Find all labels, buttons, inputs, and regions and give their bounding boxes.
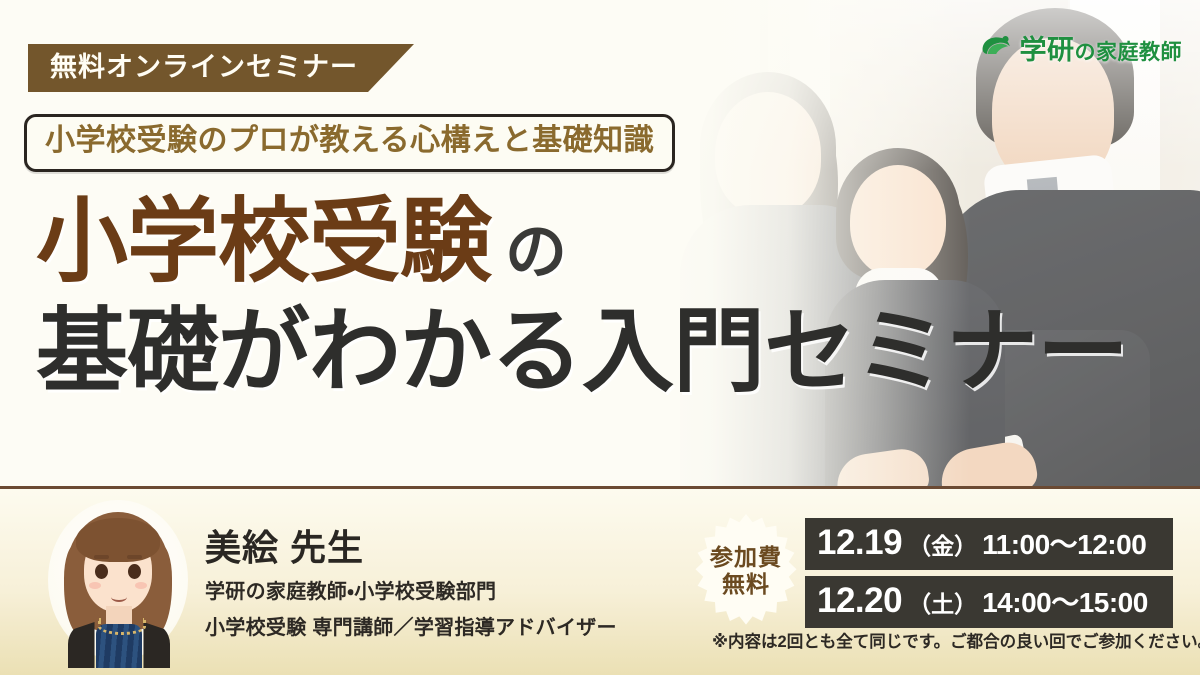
session-weekday: （金） [908, 527, 977, 561]
session-note: ※内容は2回とも全て同じです。ご都合の良い回でご参加ください。 [712, 628, 1192, 652]
avatar-eye [95, 564, 108, 579]
instructor-affiliation: 学研の家庭教師・小学校受験部門 [205, 575, 617, 604]
session-date: 12.20 [817, 581, 902, 621]
headline-particle: の [505, 221, 567, 290]
instructor-info: 美絵 先生 学研の家庭教師・小学校受験部門 小学校受験 専門講師／学習指導アドバ… [205, 528, 617, 640]
hero-section: 学研の家庭教師 無料オンラインセミナー 小学校受験のプロが教える心構えと基礎知識… [0, 0, 1200, 487]
section-divider [0, 486, 1200, 489]
avatar-cheek [89, 582, 101, 589]
headline-line-1: 小学校受験 の [36, 196, 1128, 290]
avatar-eyebrow [94, 555, 109, 559]
headline: 小学校受験 の 基礎がわかる入門セミナー [36, 196, 1128, 400]
session-weekday: （土） [908, 585, 977, 619]
fee-badge-line2: 無料 [722, 571, 770, 598]
fee-badge-line1: 参加費 [710, 544, 782, 571]
session-list: 12.19 （金） 11:00〜12:00 12.20 （土） 14:00〜15… [805, 518, 1173, 634]
avatar-mouth [111, 592, 127, 602]
fee-badge: 参加費 無料 [687, 512, 805, 630]
instructor-name: 美絵 先生 [205, 528, 617, 568]
avatar-bangs [76, 518, 160, 562]
instructor-avatar [48, 500, 188, 668]
avatar-cheek [135, 582, 147, 589]
fee-badge-text: 参加費 無料 [687, 512, 805, 630]
avatar-illustration [54, 502, 182, 668]
avatar-necklace [98, 618, 146, 635]
session-time: 14:00〜15:00 [982, 581, 1148, 621]
gakken-logo-text: 学研の家庭教師 [1020, 28, 1183, 67]
avatar-eye [128, 564, 141, 579]
free-online-seminar-tag: 無料オンラインセミナー [28, 44, 414, 92]
session-time: 11:00〜12:00 [982, 523, 1146, 563]
headline-brown-text: 小学校受験 [36, 196, 491, 290]
gakken-logo: 学研の家庭教師 [980, 28, 1183, 67]
session-row: 12.20 （土） 14:00〜15:00 [805, 576, 1173, 628]
seminar-subtitle: 小学校受験のプロが教える心構えと基礎知識 [24, 114, 675, 172]
avatar-eyebrow [127, 555, 142, 559]
session-row: 12.19 （金） 11:00〜12:00 [805, 518, 1173, 570]
seminar-banner: 学研の家庭教師 無料オンラインセミナー 小学校受験のプロが教える心構えと基礎知識… [0, 0, 1200, 675]
instructor-role: 小学校受験 専門講師／学習指導アドバイザー [205, 611, 617, 640]
gakken-swoosh-icon [980, 33, 1014, 63]
session-date: 12.19 [817, 523, 902, 563]
headline-line-2: 基礎がわかる入門セミナー [36, 306, 1128, 400]
